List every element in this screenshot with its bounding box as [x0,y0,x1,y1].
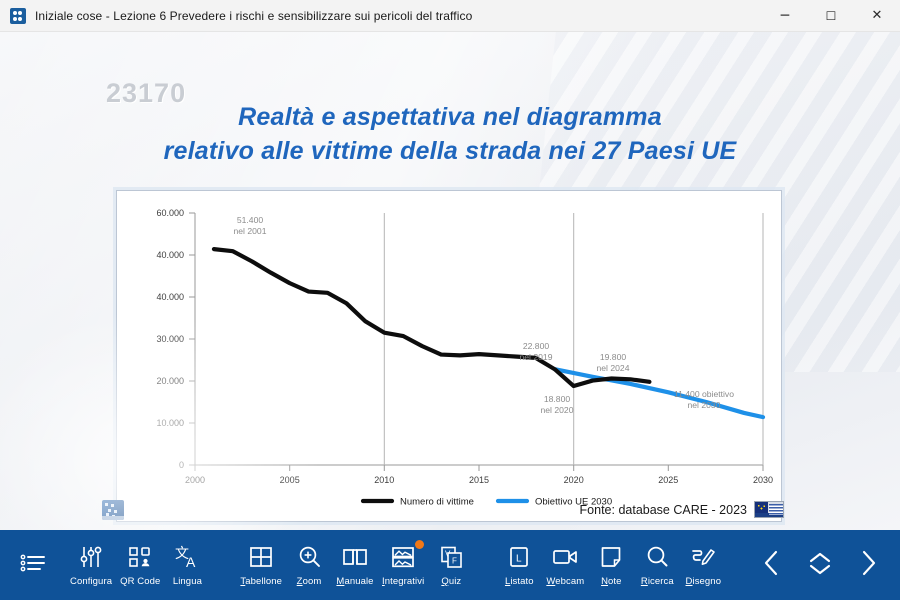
y-tick-label-4: 40.000 [156,292,184,302]
x-axis-tick-labels: 2000 2005 2010 2015 2020 2025 2030 [185,475,773,485]
toolbar-label-note: Note [601,576,621,587]
slide-canvas: 23170 Realtà e aspettativa nel diagramma… [0,32,900,530]
listato-l-icon: L [507,543,531,571]
toolbar-label-quiz: Quiz [441,576,461,587]
chevron-left-icon [759,543,785,583]
toolbar-label-integrativi: Integrativi [382,576,424,587]
annotation-2024-value: 19.800 [600,352,627,362]
svg-text:F: F [452,557,457,566]
nav-prev-button[interactable] [748,530,796,600]
chart-container: 0 10.000 20.000 30.000 40.000 40.000 60.… [116,190,782,522]
toolbar-label-configura: Configura [70,576,112,587]
toolbar-item-listato[interactable]: L Listato [496,530,542,600]
toolbar-item-manuale[interactable]: Manuale [332,530,378,600]
sliders-icon [79,543,103,571]
nav-updown-button[interactable] [796,530,844,600]
x-tick-label-2: 2010 [374,475,394,485]
toolbar-item-quiz[interactable]: V F Quiz [428,530,474,600]
y-tick-label-2: 20.000 [156,376,184,386]
title-bar: Iniziale cose - Lezione 6 Prevedere i ri… [0,0,900,32]
qr-code-icon [128,543,152,571]
y-tick-label-5: 40.000 [156,250,184,260]
images-icon [391,543,415,571]
toolbar-label-tabellone: Tabellone [240,576,282,587]
page-title-line1: Realtà e aspettativa nel diagramma [238,103,662,131]
close-button[interactable]: ✕ [854,0,900,32]
people-icon [10,8,26,24]
eu-flag-badge [754,501,784,518]
toolbar-item-disegno[interactable]: Disegno [680,530,726,600]
annotation-2001-year: nel 2001 [234,226,267,236]
cards-vf-icon: V F [439,543,463,571]
series-line-numero-di-vittime [214,249,649,386]
bottom-toolbar: Configura QR Code 文 A Lingu [0,530,900,600]
window-controls: ─ ☐ ✕ [762,0,900,32]
y-tick-label-0: 0 [179,460,184,470]
source-credit: Fonte: database CARE - 2023 [580,501,784,518]
webcam-icon [552,543,578,571]
annotation-2020-value: 18.800 [544,394,571,404]
toolbar-item-menu[interactable] [6,530,52,600]
svg-text:L: L [516,554,522,565]
pencil-draw-icon [690,543,716,571]
nav-back-button[interactable] [892,530,900,600]
window-title: Iniziale cose - Lezione 6 Prevedere i ri… [35,9,472,23]
toolbar-label-webcam: Webcam [546,576,584,587]
publisher-logo [102,500,124,520]
chart-annotations: 51.400 nel 2001 22.800 nel 2019 18.800 n… [234,215,735,415]
y-tick-label-1: 10.000 [156,418,184,428]
translate-icon: 文 A [174,543,200,571]
source-text: Fonte: database CARE - 2023 [580,503,747,517]
minimize-button[interactable]: ─ [762,0,808,32]
toolbar-label-qrcode: QR Code [120,576,160,587]
toolbar-label-manuale: Manuale [336,576,373,587]
app-window: Iniziale cose - Lezione 6 Prevedere i ri… [0,0,900,600]
toolbar-item-note[interactable]: Note [588,530,634,600]
toolbar-item-configura[interactable]: Configura [66,530,116,600]
annotation-2019-year: nel 2019 [520,352,553,362]
y-tick-label-3: 30.000 [156,334,184,344]
toolbar-item-tabellone[interactable]: Tabellone [236,530,286,600]
toolbar-item-qrcode[interactable]: QR Code [116,530,164,600]
x-axis-ticks [195,465,763,471]
page-title-line2: relativo alle vittime della strada nei 2… [90,134,810,168]
annotation-2030-value: 11.400 obiettivo [674,389,734,399]
magnifier-plus-icon [297,543,321,571]
annotation-2024-year: nel 2024 [597,363,630,373]
x-tick-label-5: 2025 [658,475,678,485]
annotation-2030-year: nel 2030 [688,400,721,410]
y-tick-label-6: 60.000 [156,208,184,218]
svg-text:A: A [186,554,196,569]
annotation-2019-value: 22.800 [523,341,550,351]
chevron-updown-icon [805,543,835,583]
x-tick-label-0: 2000 [185,475,205,485]
chart-legend: Numero di vittime Obiettivo UE 2030 [363,497,612,508]
x-tick-label-6: 2030 [753,475,773,485]
list-menu-icon [20,549,46,577]
gridlines-vertical [384,213,763,465]
grid-table-icon [249,543,273,571]
x-tick-label-3: 2015 [469,475,489,485]
line-chart: 0 10.000 20.000 30.000 40.000 40.000 60.… [117,191,783,523]
toolbar-item-zoom[interactable]: Zoom [286,530,332,600]
notification-badge [415,540,424,549]
toolbar-label-listato: Listato [505,576,534,587]
nav-next-button[interactable] [844,530,892,600]
toolbar-item-webcam[interactable]: Webcam [542,530,588,600]
page-title: Realtà e aspettativa nel diagramma relat… [90,100,810,168]
open-book-icon [342,543,368,571]
maximize-button[interactable]: ☐ [808,0,854,32]
toolbar-item-ricerca[interactable]: Ricerca [634,530,680,600]
x-tick-label-4: 2020 [564,475,584,485]
annotation-2001-value: 51.400 [237,215,264,225]
note-page-icon [599,543,623,571]
legend-label-numero-di-vittime: Numero di vittime [400,497,474,508]
chevron-right-icon [855,543,881,583]
toolbar-item-integrativi[interactable]: Integrativi [378,530,428,600]
toolbar-label-lingua: Lingua [173,576,202,587]
search-icon [645,543,669,571]
toolbar-item-lingua[interactable]: 文 A Lingua [164,530,210,600]
y-axis-tick-labels: 0 10.000 20.000 30.000 40.000 40.000 60.… [156,208,184,470]
x-tick-label-1: 2005 [280,475,300,485]
y-axis-ticks [189,213,195,465]
toolbar-label-zoom: Zoom [297,576,322,587]
annotation-2020-year: nel 2020 [541,405,574,415]
toolbar-label-disegno: Disegno [686,576,722,587]
toolbar-label-ricerca: Ricerca [641,576,674,587]
